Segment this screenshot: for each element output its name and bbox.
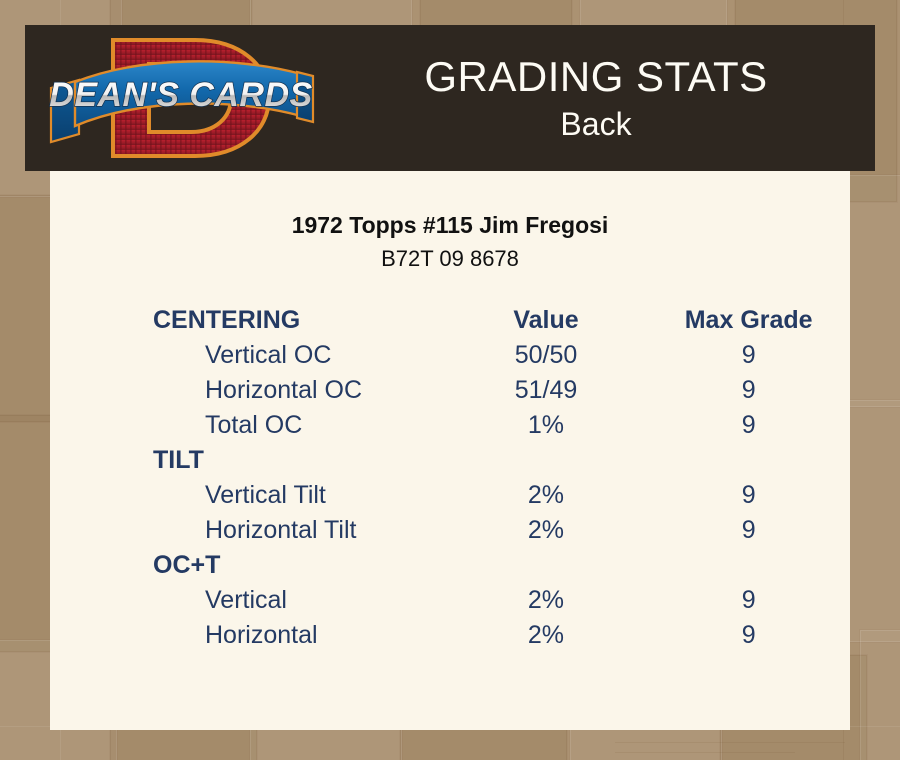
section-label: OC+T [50, 548, 445, 583]
logo-banner-text: DEAN'S CARDS [49, 76, 312, 114]
stat-value: 2% [445, 618, 648, 653]
table-row: Total OC 1% 9 [50, 408, 850, 443]
stat-value: 2% [445, 513, 648, 548]
card-title: 1972 Topps #115 Jim Fregosi [50, 211, 850, 239]
stat-value: 50/50 [445, 338, 648, 373]
section-header-row-oct: OC+T [50, 548, 850, 583]
stat-label: Horizontal OC [50, 373, 445, 408]
grading-stats-table: CENTERING Value Max Grade Vertical OC 50… [50, 303, 850, 653]
table-row: Horizontal 2% 9 [50, 618, 850, 653]
column-header-max-grade: Max Grade [647, 303, 850, 338]
section-label: TILT [50, 443, 445, 478]
column-header-centering: CENTERING [50, 303, 445, 338]
stat-label: Horizontal Tilt [50, 513, 445, 548]
stat-label: Vertical [50, 583, 445, 618]
stat-label: Vertical OC [50, 338, 445, 373]
page-title: GRADING STATS [424, 52, 767, 102]
stat-value: 2% [445, 583, 648, 618]
stat-value: 2% [445, 478, 648, 513]
stat-label: Horizontal [50, 618, 445, 653]
section-spacer-grade [647, 443, 850, 478]
header-bar: DEAN'S CARDS GRADING STATS Back [25, 25, 875, 171]
stat-value: 1% [445, 408, 648, 443]
card-id: B72T 09 8678 [50, 245, 850, 273]
table-header-row: CENTERING Value Max Grade [50, 303, 850, 338]
grading-stats-page: DEAN'S CARDS GRADING STATS Back 1972 Top… [0, 0, 900, 760]
stat-grade: 9 [647, 618, 850, 653]
stat-label: Vertical Tilt [50, 478, 445, 513]
section-spacer-value [445, 548, 648, 583]
stat-grade: 9 [647, 338, 850, 373]
table-row: Horizontal OC 51/49 9 [50, 373, 850, 408]
table-row: Vertical 2% 9 [50, 583, 850, 618]
table-head: CENTERING Value Max Grade [50, 303, 850, 338]
stat-grade: 9 [647, 513, 850, 548]
table-body: Vertical OC 50/50 9 Horizontal OC 51/49 … [50, 338, 850, 653]
deans-cards-logo: DEAN'S CARDS [45, 30, 317, 166]
stat-value: 51/49 [445, 373, 648, 408]
page-subtitle: Back [560, 104, 631, 144]
column-header-value: Value [445, 303, 648, 338]
table-row: Vertical Tilt 2% 9 [50, 478, 850, 513]
content-panel: 1972 Topps #115 Jim Fregosi B72T 09 8678… [50, 171, 850, 730]
table-row: Horizontal Tilt 2% 9 [50, 513, 850, 548]
stat-grade: 9 [647, 408, 850, 443]
stat-grade: 9 [647, 583, 850, 618]
stat-grade: 9 [647, 478, 850, 513]
table-row: Vertical OC 50/50 9 [50, 338, 850, 373]
section-spacer-value [445, 443, 648, 478]
section-header-row-tilt: TILT [50, 443, 850, 478]
deans-cards-logo-svg: DEAN'S CARDS [45, 30, 317, 166]
section-spacer-grade [647, 548, 850, 583]
stat-label: Total OC [50, 408, 445, 443]
stat-grade: 9 [647, 373, 850, 408]
title-block: GRADING STATS Back [325, 25, 875, 171]
